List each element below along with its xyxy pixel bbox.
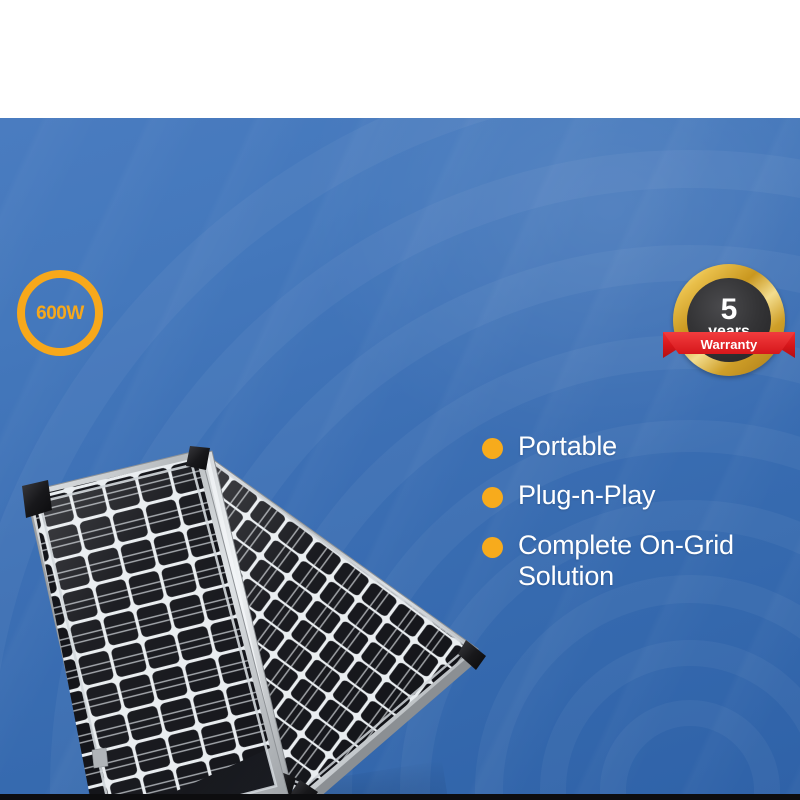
bullet-dot-icon [482,487,503,508]
solar-panel-illustration [0,418,520,794]
panel-hinge [196,451,296,794]
feature-label: Portable [518,431,617,462]
panel-latch [92,748,108,768]
feature-item-portable: Portable [482,431,794,462]
ripple-ring [600,700,780,794]
product-shadow [27,761,453,794]
warranty-ribbon: Warranty [663,332,795,358]
warranty-years-number: 5 [721,296,738,323]
solar-panel-product-image [0,418,520,794]
feature-list: Portable Plug-n-Play Complete On-Grid So… [482,431,794,592]
wattage-label: 600W [36,304,84,323]
feature-label: Complete On-Grid Solution [518,530,794,593]
bottom-dark-band [0,794,800,800]
panel-kickstand [56,566,258,794]
ripple-ring [475,575,800,794]
bullet-dot-icon [482,438,503,459]
bullet-dot-icon [482,537,503,558]
product-banner: 600W 5 years Warranty Portable Plug- [0,0,800,800]
wattage-badge: 600W [17,270,103,356]
solar-panel-right-wing [14,418,520,794]
blue-background: 600W 5 years Warranty Portable Plug- [0,118,800,794]
warranty-ribbon-label: Warranty [701,337,758,352]
solar-panel-left-wing [0,418,473,794]
top-white-band [0,0,800,118]
feature-label: Plug-n-Play [518,480,655,511]
warranty-badge: 5 years Warranty [673,264,785,376]
ripple-ring [540,640,800,794]
feature-item-plug-n-play: Plug-n-Play [482,480,794,511]
feature-item-complete-on-grid-solution: Complete On-Grid Solution [482,530,794,593]
